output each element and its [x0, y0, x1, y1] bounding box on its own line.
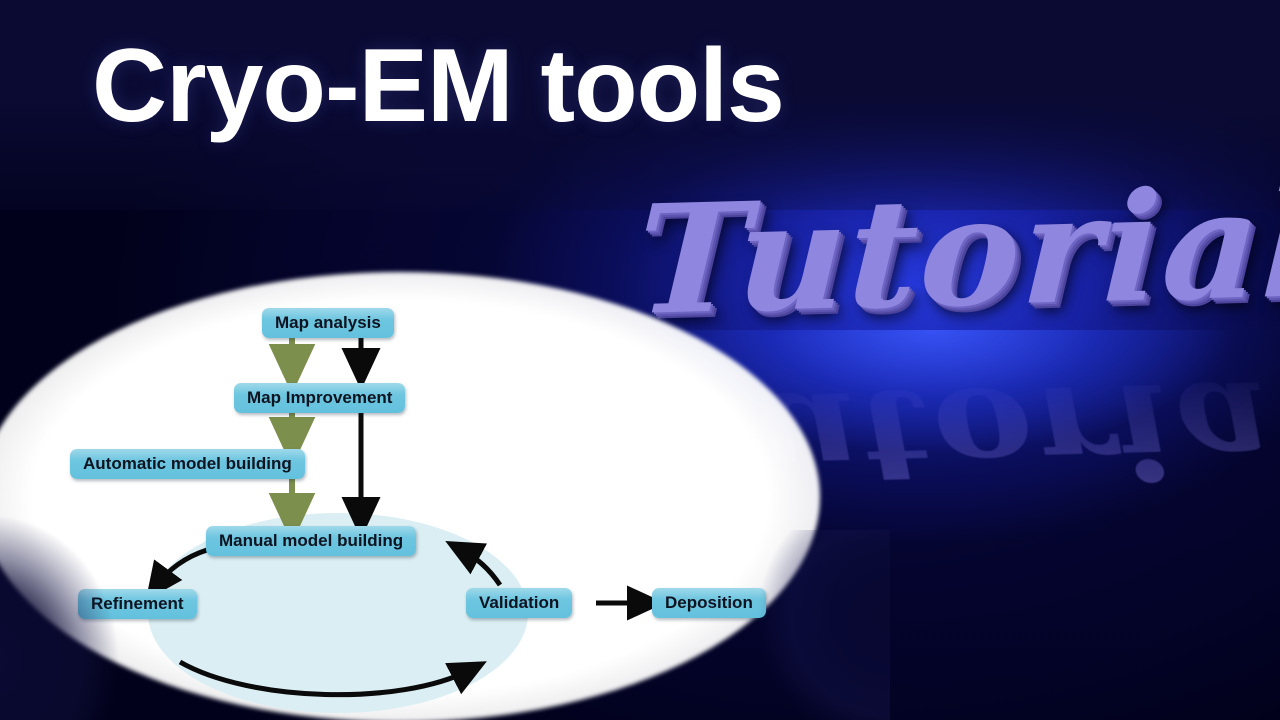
page-title: Cryo-EM tools [92, 34, 784, 138]
node-map-improvement[interactable]: Map Improvement [234, 383, 405, 413]
node-manual-model-building[interactable]: Manual model building [206, 526, 416, 556]
node-refinement[interactable]: Refinement [78, 589, 197, 619]
slide-canvas: Tutorial Tutorial Cryo-EM tools [0, 0, 1280, 720]
node-validation[interactable]: Validation [466, 588, 572, 618]
workflow-diagram: Map analysis Map Improvement Automatic m… [0, 270, 830, 720]
diagram-arrows [0, 270, 830, 720]
node-deposition[interactable]: Deposition [652, 588, 766, 618]
node-automatic-model-building[interactable]: Automatic model building [70, 449, 305, 479]
node-map-analysis[interactable]: Map analysis [262, 308, 394, 338]
arrow-manual-to-refinement [157, 550, 207, 585]
arrow-refinement-to-validation [180, 662, 470, 695]
arrow-validation-to-manual [462, 550, 500, 585]
